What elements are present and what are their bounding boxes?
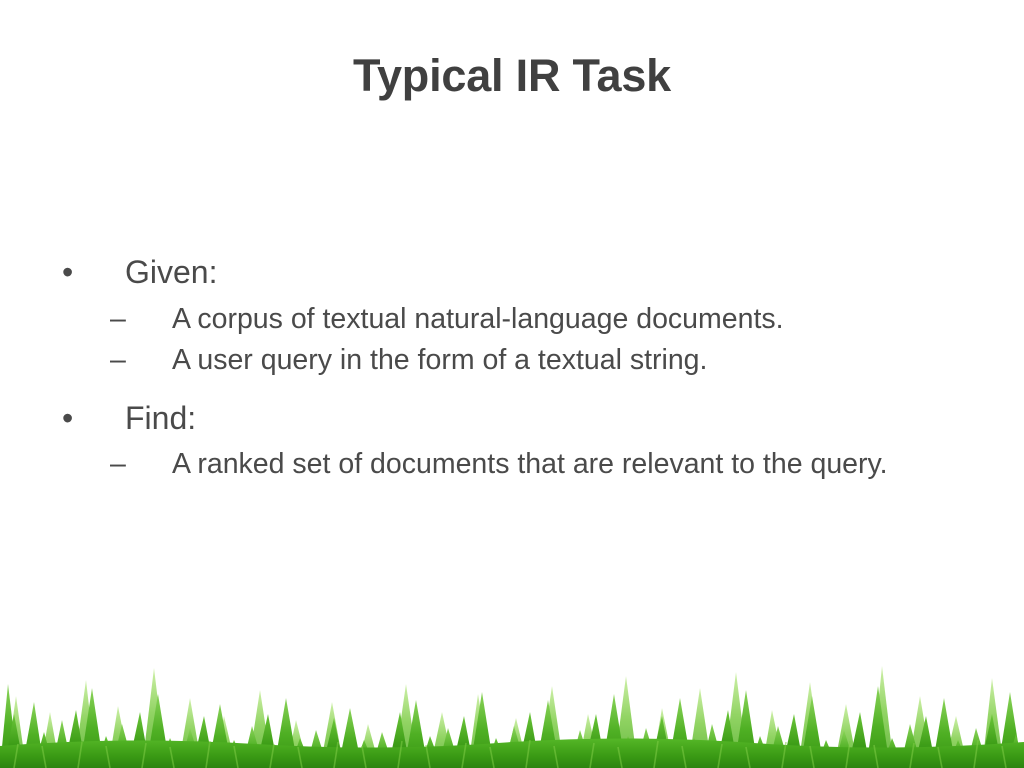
slide-body: • Given: – A corpus of textual natural-l… (0, 252, 1024, 486)
list-item-label: Given: (125, 254, 217, 290)
bullet-dot-icon: • (62, 252, 73, 294)
list-item: – A user query in the form of a textual … (0, 341, 1024, 380)
bullet-dash-icon: – (110, 445, 126, 484)
list-item-label: A user query in the form of a textual st… (172, 344, 707, 376)
grass-border-decoration (0, 628, 1024, 768)
page-title: Typical IR Task (0, 52, 1024, 99)
list-item: • Find: (0, 398, 1024, 440)
bullet-dot-icon: • (62, 398, 73, 440)
list-item: – A corpus of textual natural-language d… (0, 300, 1024, 339)
list-item: • Given: (0, 252, 1024, 294)
list-item-label: A ranked set of documents that are relev… (172, 448, 888, 480)
list-item: – A ranked set of documents that are rel… (0, 445, 1024, 484)
list-item-label: Find: (125, 400, 196, 436)
list-item-label: A corpus of textual natural-language doc… (172, 303, 784, 335)
slide-canvas: Typical IR Task • Given: – A corpus of t… (0, 0, 1024, 768)
bullet-dash-icon: – (110, 300, 126, 339)
bullet-dash-icon: – (110, 341, 126, 380)
